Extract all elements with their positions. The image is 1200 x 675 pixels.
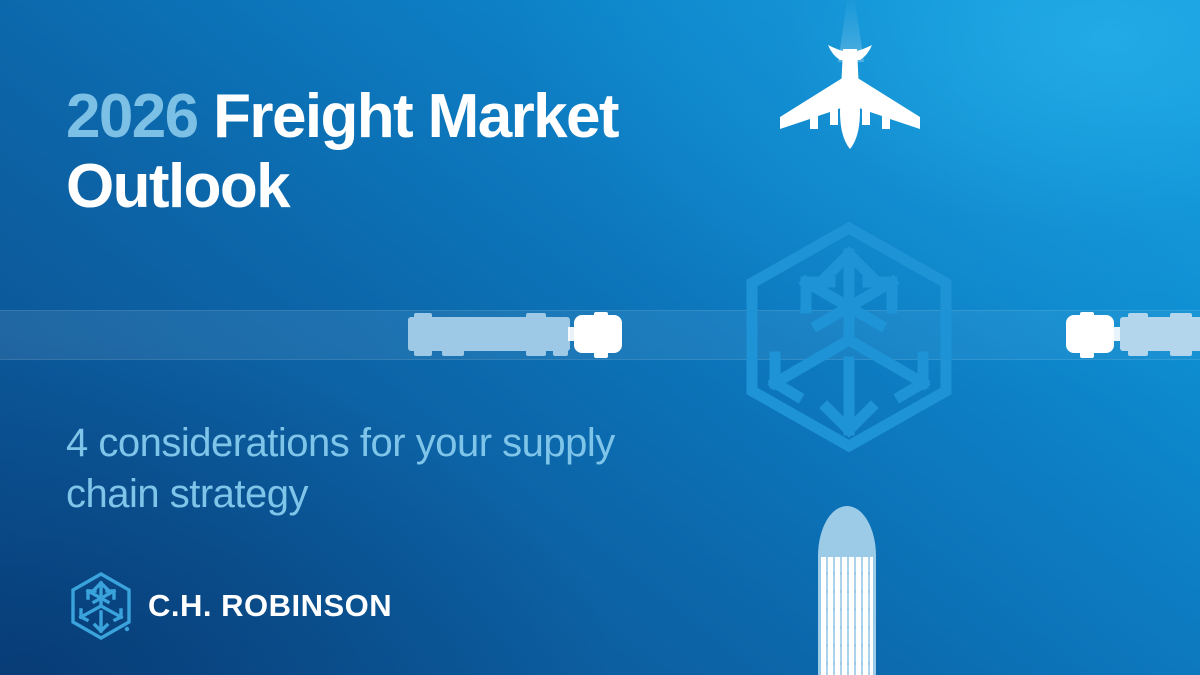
ship-container-stacks	[821, 557, 873, 675]
airplane-icon	[772, 41, 928, 149]
brand-logo: C.H. ROBINSON	[70, 572, 392, 640]
ch-robinson-hexagon-icon	[70, 572, 132, 640]
freight-market-outlook-graphic: 2026 Freight Market Outlook 4 considerat…	[0, 0, 1200, 675]
container-ship-icon	[818, 506, 876, 675]
page-title: 2026 Freight Market Outlook	[66, 82, 706, 222]
page-subtitle: 4 considerations for your supply chain s…	[66, 418, 666, 520]
semi-truck-right	[1062, 311, 1200, 359]
semi-truck-left	[408, 311, 628, 359]
headline-year: 2026	[66, 82, 198, 151]
hexagon-cube-arrows-watermark	[744, 222, 954, 452]
brand-wordmark: C.H. ROBINSON	[148, 588, 392, 624]
ship-bow	[818, 506, 876, 558]
